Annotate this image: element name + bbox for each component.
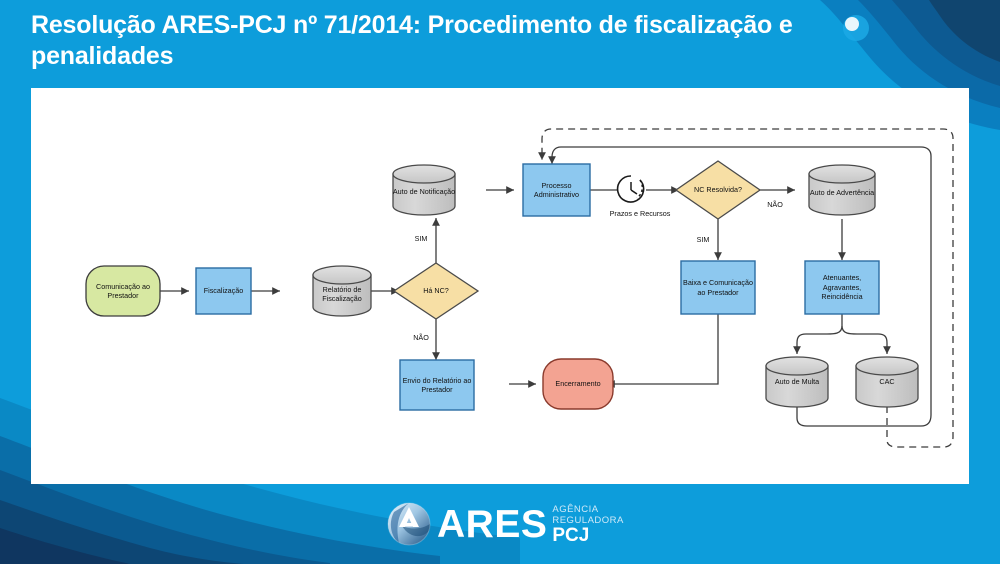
logo-subtitle: AGÊNCIA REGULADORA PCJ [552,502,624,546]
logo-wordmark: ARES [437,505,547,544]
clock-icon [618,176,644,202]
node-baixa-e-comunicacao-ao-prestador [681,261,755,314]
edge-atenuantes-automulta [797,326,842,354]
node-ha-nc [394,263,478,319]
ares-globe-icon [386,501,432,547]
slide-root: Resolução ARES-PCJ nº 71/2014: Procedime… [0,0,1000,564]
node-auto-de-notificacao [393,165,455,215]
node-nc-resolvida [676,161,760,219]
node-envio-do-relatorio-ao-prestador [400,360,474,410]
flowchart-diagram [31,88,969,484]
node-relatorio-de-fiscalizacao [313,266,371,316]
ares-pcj-logo: ARES AGÊNCIA REGULADORA PCJ [386,495,616,553]
node-atenuantes-agravantes-reincidencia [805,261,879,314]
node-auto-de-advertencia [809,165,875,215]
node-cac [856,357,918,407]
node-fiscalizacao [196,268,251,314]
node-auto-de-multa [766,357,828,407]
page-title: Resolução ARES-PCJ nº 71/2014: Procedime… [31,10,871,72]
node-comunicacao-ao-prestador [86,266,160,316]
node-encerramento [543,359,613,409]
edge-atenuantes-cac [842,326,887,354]
logo-sub-line1: AGÊNCIA [552,504,598,515]
flowchart-card: Comunicação ao Prestador Fiscalização Re… [31,88,969,484]
edge-baixa-encerramento [607,314,718,384]
logo-sub-line2: REGULADORA [552,515,624,526]
node-processo-administrativo [523,164,590,216]
logo-sub-pcj: PCJ [552,526,624,546]
